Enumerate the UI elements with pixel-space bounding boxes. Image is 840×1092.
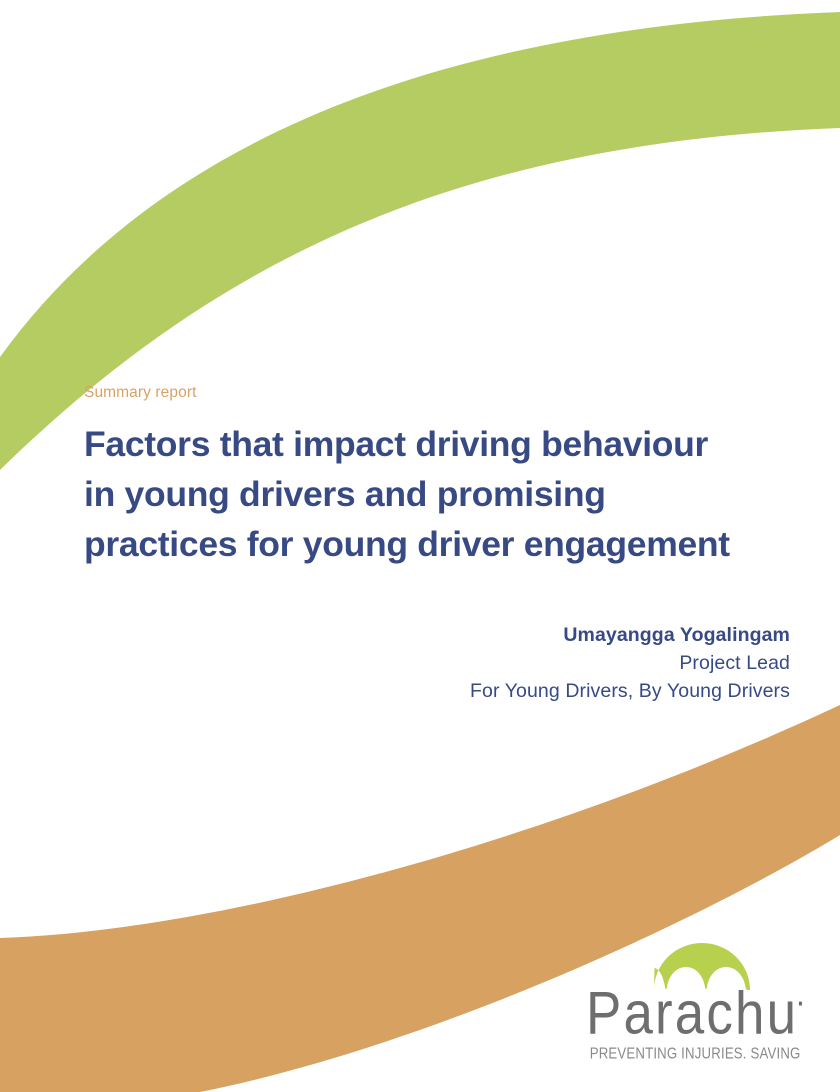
page-title-line-2: in young drivers and promising — [84, 469, 796, 519]
byline-block: Umayangga Yogalingam Project Lead For Yo… — [84, 621, 790, 705]
report-kicker: Summary report — [84, 384, 796, 401]
page-title: Factors that impact driving behaviour in… — [84, 419, 796, 569]
parachute-logo: Parachute PREVENTING INJURIES. SAVING LI… — [586, 928, 802, 1068]
cover-page: Summary report Factors that impact drivi… — [0, 0, 840, 1092]
author-name: Umayangga Yogalingam — [84, 621, 790, 649]
cover-content: Summary report Factors that impact drivi… — [84, 384, 796, 705]
logo-tagline: PREVENTING INJURIES. SAVING LIVES. — [590, 1046, 802, 1063]
author-organization: For Young Drivers, By Young Drivers — [84, 677, 790, 705]
parachute-logo-svg: Parachute PREVENTING INJURIES. SAVING LI… — [586, 928, 802, 1068]
page-title-line-1: Factors that impact driving behaviour — [84, 419, 796, 469]
page-title-line-3: practices for young driver engagement — [84, 519, 796, 569]
logo-wordmark: Parachute — [586, 980, 802, 1047]
author-role: Project Lead — [84, 649, 790, 677]
